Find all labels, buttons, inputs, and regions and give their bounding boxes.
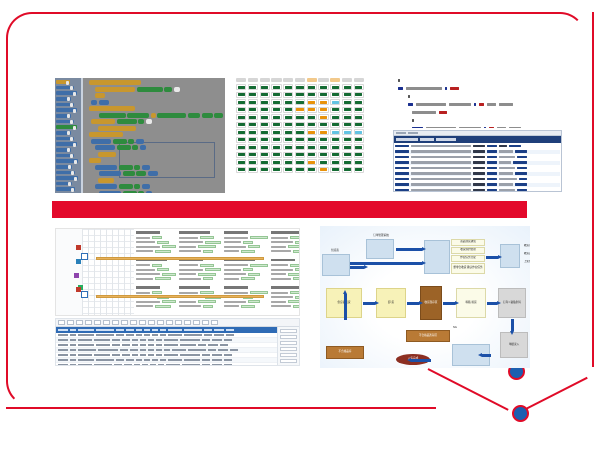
status-cell[interactable] <box>342 99 352 105</box>
status-cell[interactable] <box>307 84 317 90</box>
block-statement-row[interactable] <box>95 87 223 92</box>
table-column-header[interactable] <box>160 329 166 331</box>
status-cell[interactable] <box>271 159 281 165</box>
planner-marker[interactable] <box>74 273 79 278</box>
status-cell[interactable] <box>236 144 246 150</box>
planner-form-value[interactable] <box>290 264 300 267</box>
log-row[interactable] <box>395 144 560 148</box>
planner-form-value[interactable] <box>152 264 162 267</box>
planner-form-value[interactable] <box>241 250 255 253</box>
table-toolbar-button[interactable] <box>112 320 119 325</box>
planner-form-row[interactable] <box>271 305 300 308</box>
status-cell[interactable] <box>342 137 352 143</box>
planner-form-row[interactable] <box>224 300 268 303</box>
status-cell[interactable] <box>318 84 328 90</box>
status-cell[interactable] <box>318 159 328 165</box>
status-cell[interactable] <box>260 107 270 113</box>
table-column-header[interactable] <box>126 329 134 331</box>
planner-form-value[interactable] <box>203 250 213 253</box>
planner-form-value[interactable] <box>162 273 176 276</box>
status-cell[interactable] <box>283 167 293 173</box>
planner-form-value[interactable] <box>157 268 169 271</box>
block-chip[interactable] <box>99 191 121 194</box>
status-cell[interactable] <box>307 159 317 165</box>
planner-form-area[interactable] <box>136 231 297 313</box>
planner-form-column[interactable] <box>136 231 176 313</box>
status-cell[interactable] <box>236 114 246 120</box>
planner-form-row[interactable] <box>179 250 221 253</box>
status-cell[interactable] <box>354 129 364 135</box>
status-cell[interactable] <box>283 159 293 165</box>
table-side-button[interactable] <box>280 329 297 333</box>
block-chip[interactable] <box>157 113 186 118</box>
status-cell[interactable] <box>283 107 293 113</box>
planner-form-value[interactable] <box>248 300 260 303</box>
table-toolbar-button[interactable] <box>67 320 74 325</box>
block-chip[interactable] <box>140 145 146 150</box>
block-chip[interactable] <box>142 184 150 189</box>
block-chip[interactable] <box>119 165 133 170</box>
status-cell[interactable] <box>283 122 293 128</box>
table-side-button[interactable] <box>280 347 297 351</box>
status-cell[interactable] <box>307 167 317 173</box>
log-row[interactable] <box>395 188 560 192</box>
planner-form-value[interactable] <box>155 305 171 308</box>
table-column-header[interactable] <box>136 329 142 331</box>
status-cell[interactable] <box>236 167 246 173</box>
block-chip[interactable] <box>91 119 115 124</box>
status-cell[interactable] <box>318 107 328 113</box>
planner-form-value[interactable] <box>250 264 268 267</box>
status-cell[interactable] <box>271 137 281 143</box>
planner-form-value[interactable] <box>290 291 300 294</box>
table-column-header[interactable] <box>96 329 114 331</box>
code-line[interactable] <box>390 110 562 115</box>
log-row[interactable] <box>395 155 560 159</box>
status-cell[interactable] <box>248 152 258 158</box>
planner-form-value[interactable] <box>295 296 300 299</box>
status-cell[interactable] <box>354 99 364 105</box>
planner-form-value[interactable] <box>288 300 300 303</box>
status-cell[interactable] <box>236 92 246 98</box>
table-toolbar-button[interactable] <box>130 320 137 325</box>
status-cell[interactable] <box>248 137 258 143</box>
table-toolbar-button[interactable] <box>58 320 65 325</box>
status-cell[interactable] <box>236 129 246 135</box>
block-chip[interactable] <box>202 113 213 118</box>
status-cell[interactable] <box>318 129 328 135</box>
table-column-header[interactable] <box>152 329 158 331</box>
planner-form-value[interactable] <box>250 291 268 294</box>
planner-form-row[interactable] <box>136 236 176 239</box>
block-chip[interactable] <box>99 171 121 176</box>
planner-form-column[interactable] <box>224 231 268 313</box>
block-chip[interactable] <box>136 171 146 176</box>
planner-form-row[interactable] <box>179 241 221 244</box>
planner-form-row[interactable] <box>136 273 176 276</box>
palette-block[interactable] <box>56 131 71 135</box>
planner-form-row[interactable] <box>179 264 221 267</box>
status-cell[interactable] <box>260 114 270 120</box>
palette-block[interactable] <box>56 86 74 90</box>
planner-form-value[interactable] <box>203 277 213 280</box>
table-column-header[interactable] <box>144 329 150 331</box>
block-chip[interactable] <box>95 87 135 92</box>
status-cell[interactable] <box>283 84 293 90</box>
status-cell[interactable] <box>260 167 270 173</box>
planner-form-row[interactable] <box>179 268 221 271</box>
status-cell[interactable] <box>260 92 270 98</box>
planner-node-2[interactable] <box>81 291 88 298</box>
status-cell[interactable] <box>236 107 246 113</box>
table-toolbar-button[interactable] <box>166 320 173 325</box>
table-column-header[interactable] <box>184 329 202 331</box>
status-cell[interactable] <box>354 152 364 158</box>
status-cell[interactable] <box>295 129 305 135</box>
table-column-header[interactable] <box>58 329 68 331</box>
status-cell[interactable] <box>295 107 305 113</box>
log-row[interactable] <box>395 177 560 181</box>
block-statement-row[interactable] <box>91 100 223 105</box>
status-cell[interactable] <box>236 137 246 143</box>
planner-form-row[interactable] <box>179 305 221 308</box>
status-cell[interactable] <box>236 99 246 105</box>
status-cell[interactable] <box>271 144 281 150</box>
block-chip[interactable] <box>123 171 135 176</box>
planner-form-value[interactable] <box>162 245 176 248</box>
data-table-toolbar[interactable] <box>56 319 299 327</box>
planner-form-row[interactable] <box>271 300 300 303</box>
planner-form-row[interactable] <box>224 277 268 280</box>
planner-form-row[interactable] <box>179 273 221 276</box>
status-cell[interactable] <box>330 152 340 158</box>
status-cell[interactable] <box>283 129 293 135</box>
planner-form-value[interactable] <box>152 236 162 239</box>
block-header[interactable] <box>98 152 116 157</box>
status-cell[interactable] <box>354 92 364 98</box>
status-cell[interactable] <box>307 99 317 105</box>
code-line[interactable] <box>390 118 562 123</box>
planner-form-row[interactable] <box>224 273 268 276</box>
block-chip[interactable] <box>151 113 156 118</box>
block-chip[interactable] <box>99 100 109 105</box>
planner-form-value[interactable] <box>241 277 255 280</box>
palette-block[interactable] <box>56 187 75 191</box>
block-chip[interactable] <box>91 139 111 144</box>
status-cell[interactable] <box>260 99 270 105</box>
block-statement-row[interactable] <box>99 191 223 194</box>
status-cell[interactable] <box>283 114 293 120</box>
status-cell[interactable] <box>318 92 328 98</box>
table-toolbar-button[interactable] <box>175 320 182 325</box>
blocks-editor-panel[interactable] <box>55 78 225 193</box>
code-editor-panel[interactable] <box>390 78 562 128</box>
planner-form-row[interactable] <box>136 245 176 248</box>
planner-form-row[interactable] <box>224 305 268 308</box>
table-column-header[interactable] <box>116 329 124 331</box>
planner-form-row[interactable] <box>179 236 221 239</box>
table-toolbar-button[interactable] <box>193 320 200 325</box>
planner-marker[interactable] <box>76 245 81 250</box>
block-chip[interactable] <box>148 171 158 176</box>
planner-form-value[interactable] <box>198 300 216 303</box>
status-cell[interactable] <box>330 84 340 90</box>
status-cell[interactable] <box>318 114 328 120</box>
gantt-bar-2[interactable] <box>96 295 264 298</box>
status-cell[interactable] <box>307 144 317 150</box>
planner-form-row[interactable] <box>271 241 300 244</box>
status-cell[interactable] <box>318 99 328 105</box>
block-chip[interactable] <box>91 100 97 105</box>
planner-form-row[interactable] <box>136 241 176 244</box>
block-chip[interactable] <box>142 165 150 170</box>
log-console-rows[interactable] <box>394 143 561 192</box>
block-statement-row[interactable] <box>99 113 223 118</box>
planner-form-value[interactable] <box>198 245 216 248</box>
status-grid-panel[interactable] <box>236 78 364 173</box>
block-chip[interactable] <box>146 191 152 194</box>
status-cell[interactable] <box>271 92 281 98</box>
table-toolbar-button[interactable] <box>202 320 209 325</box>
planner-form-value[interactable] <box>155 250 171 253</box>
blocks-palette[interactable] <box>55 78 83 193</box>
table-toolbar-button[interactable] <box>211 320 218 325</box>
palette-block[interactable] <box>56 137 74 141</box>
table-column-header[interactable] <box>78 329 94 331</box>
planner-form-column[interactable] <box>179 231 221 313</box>
status-cell[interactable] <box>342 92 352 98</box>
planner-node-1[interactable] <box>81 253 88 260</box>
block-chip[interactable] <box>99 113 126 118</box>
status-cell[interactable] <box>330 167 340 173</box>
planner-form-row[interactable] <box>271 268 300 271</box>
palette-block[interactable] <box>56 91 77 95</box>
log-console-panel[interactable] <box>393 130 562 192</box>
status-cell[interactable] <box>342 152 352 158</box>
block-chip[interactable] <box>138 119 144 124</box>
status-cell[interactable] <box>307 122 317 128</box>
planner-form-value[interactable] <box>200 291 214 294</box>
status-cell[interactable] <box>342 114 352 120</box>
status-cell[interactable] <box>330 114 340 120</box>
status-cell[interactable] <box>307 107 317 113</box>
planner-form-row[interactable] <box>271 250 300 253</box>
data-table-side-buttons[interactable] <box>277 327 299 365</box>
status-cell[interactable] <box>236 122 246 128</box>
status-cell[interactable] <box>248 84 258 90</box>
planner-marker[interactable] <box>76 259 81 264</box>
planner-form-row[interactable] <box>224 264 268 267</box>
block-chip[interactable] <box>113 139 127 144</box>
planner-form-value[interactable] <box>293 277 300 280</box>
status-cell[interactable] <box>330 122 340 128</box>
table-side-button[interactable] <box>280 335 297 339</box>
planner-form-row[interactable] <box>224 250 268 253</box>
planner-form-value[interactable] <box>155 277 171 280</box>
planner-form-row[interactable] <box>271 236 300 239</box>
data-table-panel[interactable] <box>55 318 300 366</box>
status-cell[interactable] <box>295 152 305 158</box>
planner-form-value[interactable] <box>241 305 255 308</box>
planner-form-value[interactable] <box>162 300 176 303</box>
table-column-header[interactable] <box>168 329 182 331</box>
status-grid-body[interactable] <box>236 84 364 173</box>
status-cell[interactable] <box>283 137 293 143</box>
palette-block[interactable] <box>56 148 71 152</box>
block-chip[interactable] <box>95 184 117 189</box>
status-cell[interactable] <box>236 159 246 165</box>
status-cell[interactable] <box>295 122 305 128</box>
palette-block[interactable] <box>56 80 70 84</box>
status-cell[interactable] <box>295 144 305 150</box>
status-cell[interactable] <box>354 167 364 173</box>
planner-form-row[interactable] <box>224 291 268 294</box>
status-cell[interactable] <box>307 129 317 135</box>
status-cell[interactable] <box>260 159 270 165</box>
table-column-header[interactable] <box>226 329 234 331</box>
status-cell[interactable] <box>295 159 305 165</box>
status-cell[interactable] <box>318 152 328 158</box>
status-cell[interactable] <box>248 144 258 150</box>
status-cell[interactable] <box>260 137 270 143</box>
status-cell[interactable] <box>248 129 258 135</box>
status-cell[interactable] <box>260 84 270 90</box>
block-chip[interactable] <box>146 119 152 124</box>
status-cell[interactable] <box>283 92 293 98</box>
status-cell[interactable] <box>330 107 340 113</box>
palette-block[interactable] <box>56 120 74 124</box>
planner-form-row[interactable] <box>136 305 176 308</box>
status-cell[interactable] <box>354 122 364 128</box>
planner-form-value[interactable] <box>295 241 300 244</box>
status-cell[interactable] <box>295 84 305 90</box>
table-toolbar-button[interactable] <box>184 320 191 325</box>
planner-form-row[interactable] <box>224 241 268 244</box>
log-row[interactable] <box>395 150 560 154</box>
block-header[interactable] <box>89 80 141 85</box>
table-toolbar-button[interactable] <box>157 320 164 325</box>
planner-form-row[interactable] <box>136 291 176 294</box>
planner-form-value[interactable] <box>200 264 214 267</box>
planner-gantt-grid[interactable] <box>82 229 134 315</box>
planner-form-row[interactable] <box>271 277 300 280</box>
block-chip[interactable] <box>132 145 138 150</box>
status-cell[interactable] <box>342 84 352 90</box>
status-cell[interactable] <box>342 129 352 135</box>
status-cell[interactable] <box>354 159 364 165</box>
status-cell[interactable] <box>248 99 258 105</box>
block-chip[interactable] <box>137 87 163 92</box>
status-cell[interactable] <box>295 167 305 173</box>
status-cell[interactable] <box>342 107 352 113</box>
table-toolbar-button[interactable] <box>148 320 155 325</box>
status-cell[interactable] <box>318 167 328 173</box>
planner-form-value[interactable] <box>295 268 300 271</box>
status-cell[interactable] <box>260 152 270 158</box>
status-cell[interactable] <box>354 84 364 90</box>
log-row[interactable] <box>395 166 560 170</box>
palette-block[interactable] <box>56 165 72 169</box>
status-cell[interactable] <box>260 129 270 135</box>
block-header[interactable] <box>98 126 136 131</box>
planner-marker[interactable] <box>76 287 81 292</box>
planner-form-value[interactable] <box>288 245 300 248</box>
blocks-canvas[interactable] <box>85 78 225 193</box>
status-cell[interactable] <box>271 84 281 90</box>
code-line[interactable] <box>390 94 562 99</box>
block-header[interactable] <box>89 158 101 163</box>
planner-form-row[interactable] <box>224 268 268 271</box>
table-toolbar-button[interactable] <box>121 320 128 325</box>
status-cell[interactable] <box>342 144 352 150</box>
status-cell[interactable] <box>236 84 246 90</box>
planner-form-row[interactable] <box>271 245 300 248</box>
planner-form-row[interactable] <box>179 245 221 248</box>
block-statement-row[interactable] <box>95 184 223 189</box>
planner-form-row[interactable] <box>136 277 176 280</box>
block-chip[interactable] <box>127 113 149 118</box>
planner-form-value[interactable] <box>248 245 260 248</box>
table-column-header[interactable] <box>204 329 212 331</box>
table-column-header[interactable] <box>214 329 224 331</box>
block-chip[interactable] <box>95 165 117 170</box>
code-line[interactable] <box>390 126 562 128</box>
table-toolbar-button[interactable] <box>94 320 101 325</box>
planner-form-value[interactable] <box>205 268 221 271</box>
table-side-button[interactable] <box>280 359 297 363</box>
palette-block[interactable] <box>56 171 75 175</box>
data-table-body[interactable] <box>56 333 299 366</box>
table-side-button[interactable] <box>280 353 297 357</box>
palette-block[interactable] <box>56 159 78 163</box>
status-cell[interactable] <box>248 92 258 98</box>
block-chip[interactable] <box>117 145 131 150</box>
status-cell[interactable] <box>260 144 270 150</box>
status-cell[interactable] <box>330 92 340 98</box>
status-cell[interactable] <box>271 129 281 135</box>
status-cell[interactable] <box>271 107 281 113</box>
log-row[interactable] <box>395 183 560 187</box>
block-chip[interactable] <box>95 145 115 150</box>
status-cell[interactable] <box>342 167 352 173</box>
block-header[interactable] <box>89 106 135 111</box>
table-toolbar-button[interactable] <box>85 320 92 325</box>
status-cell[interactable] <box>248 107 258 113</box>
planner-form-row[interactable] <box>136 250 176 253</box>
planner-form-row[interactable] <box>179 300 221 303</box>
status-cell[interactable] <box>318 137 328 143</box>
status-cell[interactable] <box>318 122 328 128</box>
block-chip[interactable] <box>134 184 140 189</box>
planner-form-value[interactable] <box>243 268 253 271</box>
status-cell[interactable] <box>260 122 270 128</box>
status-cell[interactable] <box>330 99 340 105</box>
status-cell[interactable] <box>283 144 293 150</box>
planner-form-value[interactable] <box>293 250 300 253</box>
planner-form-row[interactable] <box>179 291 221 294</box>
block-chip[interactable] <box>164 87 172 92</box>
palette-block[interactable] <box>56 142 77 146</box>
status-cell[interactable] <box>354 114 364 120</box>
table-row[interactable] <box>56 363 299 366</box>
log-row[interactable] <box>395 161 560 165</box>
status-cell[interactable] <box>318 144 328 150</box>
planner-form-row[interactable] <box>271 296 300 299</box>
block-chip[interactable] <box>188 113 201 118</box>
planner-form-row[interactable] <box>224 236 268 239</box>
block-header[interactable] <box>89 132 123 137</box>
status-cell[interactable] <box>330 159 340 165</box>
